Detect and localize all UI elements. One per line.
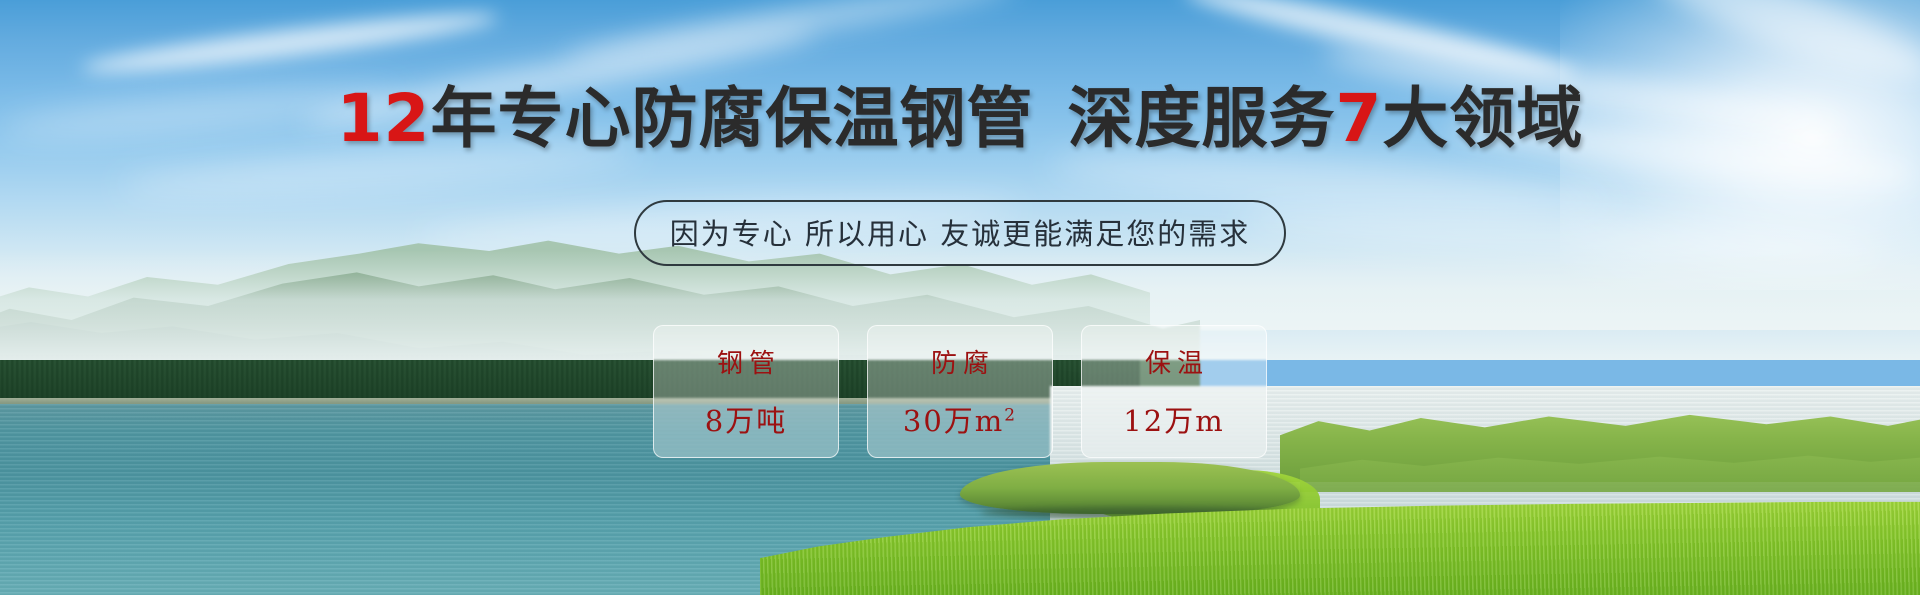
stat-value-text: 8万吨 [705,404,787,438]
stat-card-label: 钢管 [711,343,781,380]
headline-fields-number: 7 [1335,80,1382,157]
headline-main-text: 年专心防腐保温钢管 [430,80,1033,157]
headline: 12年专心防腐保温钢管深度服务7大领域 [0,86,1920,152]
headline-years-number: 12 [337,80,431,157]
stat-card-value: 12万m [1123,398,1224,440]
stat-card-value: 30万m2 [903,398,1017,440]
headline-fields-text: 大领域 [1382,80,1583,157]
stat-card-label: 保温 [1139,343,1209,380]
stat-card-insulation: 保温 12万m [1081,325,1267,458]
promo-banner: 12年专心防腐保温钢管深度服务7大领域 因为专心 所以用心 友诚更能满足您的需求… [0,0,1920,595]
headline-service-text: 深度服务 [1067,80,1335,157]
subtitle-pill: 因为专心 所以用心 友诚更能满足您的需求 [634,200,1286,266]
stat-card-value: 8万吨 [705,398,787,440]
stat-card-anticorrosion: 防腐 30万m2 [867,325,1053,458]
stat-card-steel-pipe: 钢管 8万吨 [653,325,839,458]
stat-value-text: 30万m [903,404,1004,438]
stat-value-superscript: 2 [1004,405,1017,425]
stat-card-label: 防腐 [925,343,995,380]
stat-cards: 钢管 8万吨 防腐 30万m2 保温 12万m [0,325,1920,458]
subtitle-container: 因为专心 所以用心 友诚更能满足您的需求 [0,200,1920,266]
grass-island [960,462,1300,514]
stat-value-text: 12万m [1123,404,1224,438]
